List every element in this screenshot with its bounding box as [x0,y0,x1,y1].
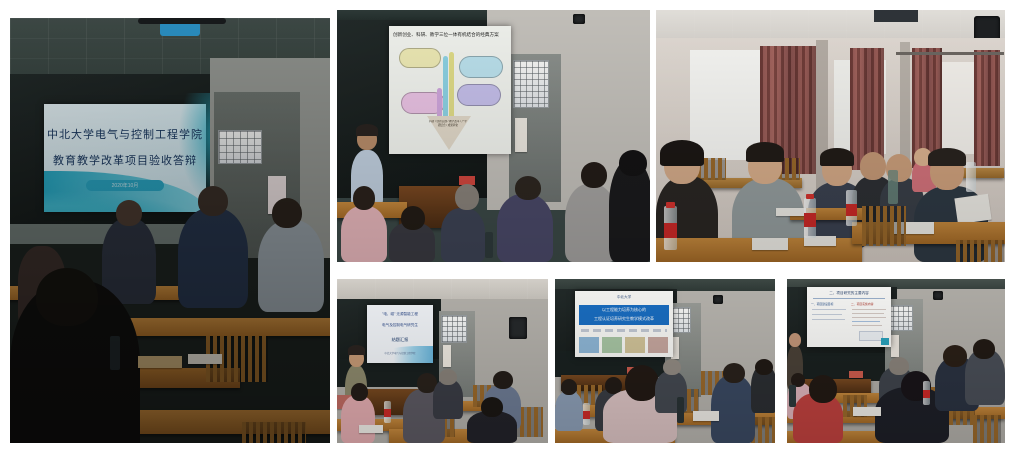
slide-line-2: 教育教学改革项目验收答辩 [44,152,206,168]
photo-collage: 中北大学电气与控制工程学院 教育教学改革项目验收答辩 2020年10月 [0,0,1013,451]
slide-footer: 中北大学电气与控制工程学院 [367,351,433,355]
document-sheet [776,208,806,216]
projection-screen: 中北大学电气与控制工程学院 教育教学改革项目验收答辩 2020年10月 [44,104,206,212]
wall-speaker [713,295,723,304]
projector-device [160,22,200,36]
slide-line-1: 中北大学电气与控制工程学院 [44,126,206,142]
slide-footer: 2020年10月 [44,182,206,189]
wall-poster [849,371,863,378]
water-bottle [789,385,796,407]
slide-line-1: "电、磁" 无源智能工程 [367,312,433,317]
water-bottle [384,401,391,423]
door-notice [515,118,527,152]
notebook [188,354,222,364]
audience-person [178,208,248,308]
audience-person [341,206,387,262]
door-window [218,130,262,164]
document-sheet [752,238,788,250]
document-sheet [359,425,383,433]
document-sheet [954,194,991,224]
slide-line-2: 电气及控制电气研究生 [367,323,433,328]
wall-speaker [573,14,585,24]
window-curtain [850,48,884,170]
slide-line-3: 结题汇报 [367,337,433,343]
slide-title: 创新创业、科研、教学三位一体有机结合的经典方案 [393,32,508,38]
audience-person [555,391,583,431]
slide-right-heading: 二、项目实施内容 [851,302,887,306]
audience-person [497,194,553,262]
water-bottle [923,381,930,405]
audience-person [711,375,755,443]
mindmap-node [457,84,501,106]
audience-person [433,379,463,419]
audience-person [341,395,375,443]
slide-logo: 中北大学 [575,295,673,300]
slide-title: 二、项目研究的主要内容 [807,291,891,296]
projection-screen: 创新创业、科研、教学三位一体有机结合的经典方案 科研 / 创新实践 / 教学改革… [389,26,511,154]
window-curtain [974,50,1000,166]
photo-review-panel-seated [656,10,1005,262]
mindmap-funnel-label: 科研 / 创新实践 / 教学改革 / 产学研结合 / 成果转化 [429,120,467,144]
photo-engineering-capability-slide: 中北大学 以工程能力培养为核心的 工程认证培养研究生教学模式改革 [555,279,775,443]
water-bottle [485,232,493,258]
photo-female-presenter: "电、磁" 无源智能工程 电气及控制电气研究生 结题汇报 中北大学电气与控制工程… [337,279,548,443]
mindmap-node [399,48,441,68]
water-bottle [664,206,677,250]
wall-speaker [509,317,527,339]
photo-two-column-slide: 二、项目研究的主要内容 一、项目建设目标 二、项目实施内容 [787,279,1005,443]
mindmap-node [459,56,503,78]
document-sheet [853,407,881,416]
ceiling-vent [874,10,918,22]
slide-line-1: 以工程能力培养为核心的 [579,307,669,313]
wall-speaker [933,291,943,300]
door-notice [891,335,899,357]
water-bottle [677,397,684,423]
photo-lecture-hall-title-slide: 中北大学电气与控制工程学院 教育教学改革项目验收答辩 2020年10月 [10,18,330,443]
projection-screen: 中北大学 以工程能力培养为核心的 工程认证培养研究生教学模式改革 [575,291,673,357]
water-bottle [888,170,898,204]
audience-person [441,208,485,262]
water-bottle [846,190,857,226]
water-bottle [110,336,120,370]
water-bottle [966,162,976,192]
door-notice [443,345,451,367]
water-bottle [583,403,590,425]
water-bottle [804,198,816,238]
projection-screen: 二、项目研究的主要内容 一、项目建设目标 二、项目实施内容 [807,287,891,347]
slide-line-2: 工程认证培养研究生教学模式改革 [579,316,669,322]
curtain-rod [896,52,1004,55]
door-window [513,60,549,108]
notebook [138,356,182,368]
ceiling-mount-bar [138,18,226,24]
mindmap-connector [443,56,448,122]
mindmap-connector [449,52,454,122]
audience-person [258,220,324,312]
slide-left-heading: 一、项目建设目标 [811,302,847,306]
photo-presenter-mindmap-slide: 创新创业、科研、教学三位一体有机结合的经典方案 科研 / 创新实践 / 教学改革… [337,10,650,262]
projection-screen: "电、磁" 无源智能工程 电气及控制电气研究生 结题汇报 中北大学电气与控制工程… [367,305,433,363]
door-window [441,315,467,343]
document-sheet [693,411,719,421]
